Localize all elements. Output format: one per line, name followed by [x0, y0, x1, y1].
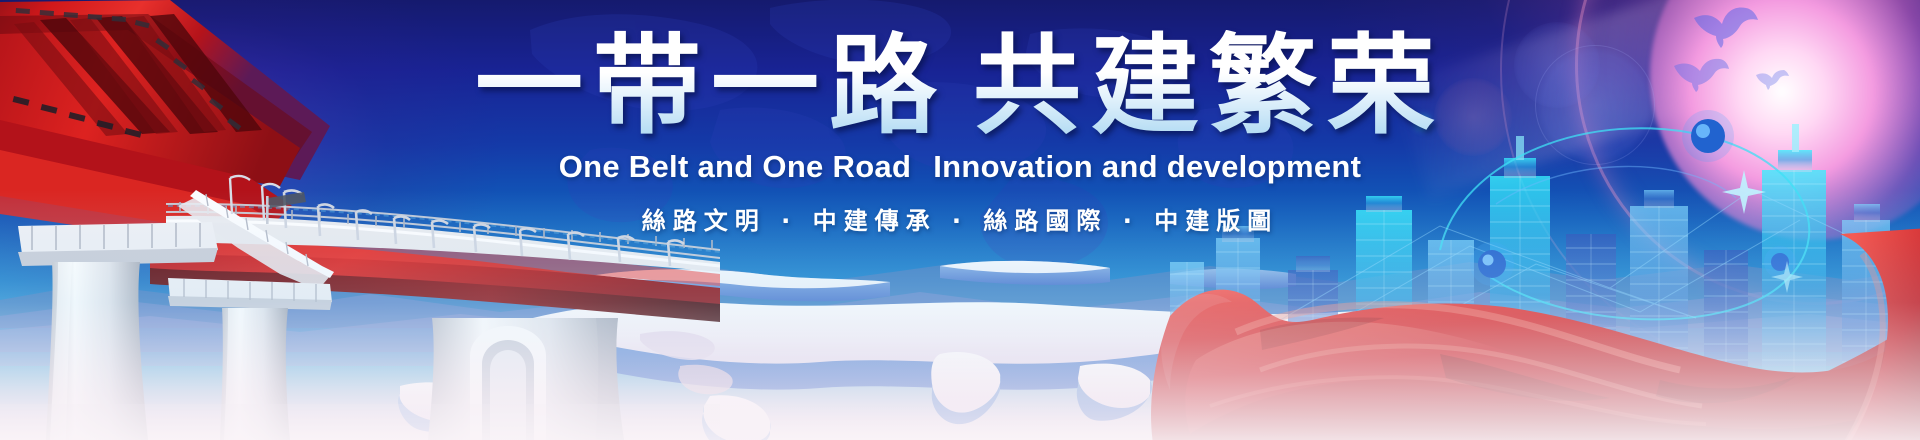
headline-part-1: 一带一路	[475, 23, 947, 149]
banner-headline: 一带一路共建繁荣	[0, 30, 1920, 143]
banner-subtitle-english: One Belt and One RoadInnovation and deve…	[0, 149, 1920, 185]
subtitle-en-part-2: Innovation and development	[933, 149, 1361, 184]
red-silk-ribbon	[1140, 220, 1920, 440]
headline-part-2: 共建繁荣	[973, 23, 1445, 149]
subtitle-en-part-1: One Belt and One Road	[559, 149, 912, 184]
banner-text-block: 一带一路共建繁荣 One Belt and One RoadInnovation…	[0, 30, 1920, 236]
belt-and-road-banner: 一带一路共建繁荣 One Belt and One RoadInnovation…	[0, 0, 1920, 440]
banner-subtitle-chinese: 絲路文明 · 中建傳承 · 絲路國際 · 中建版圖	[0, 201, 1920, 236]
